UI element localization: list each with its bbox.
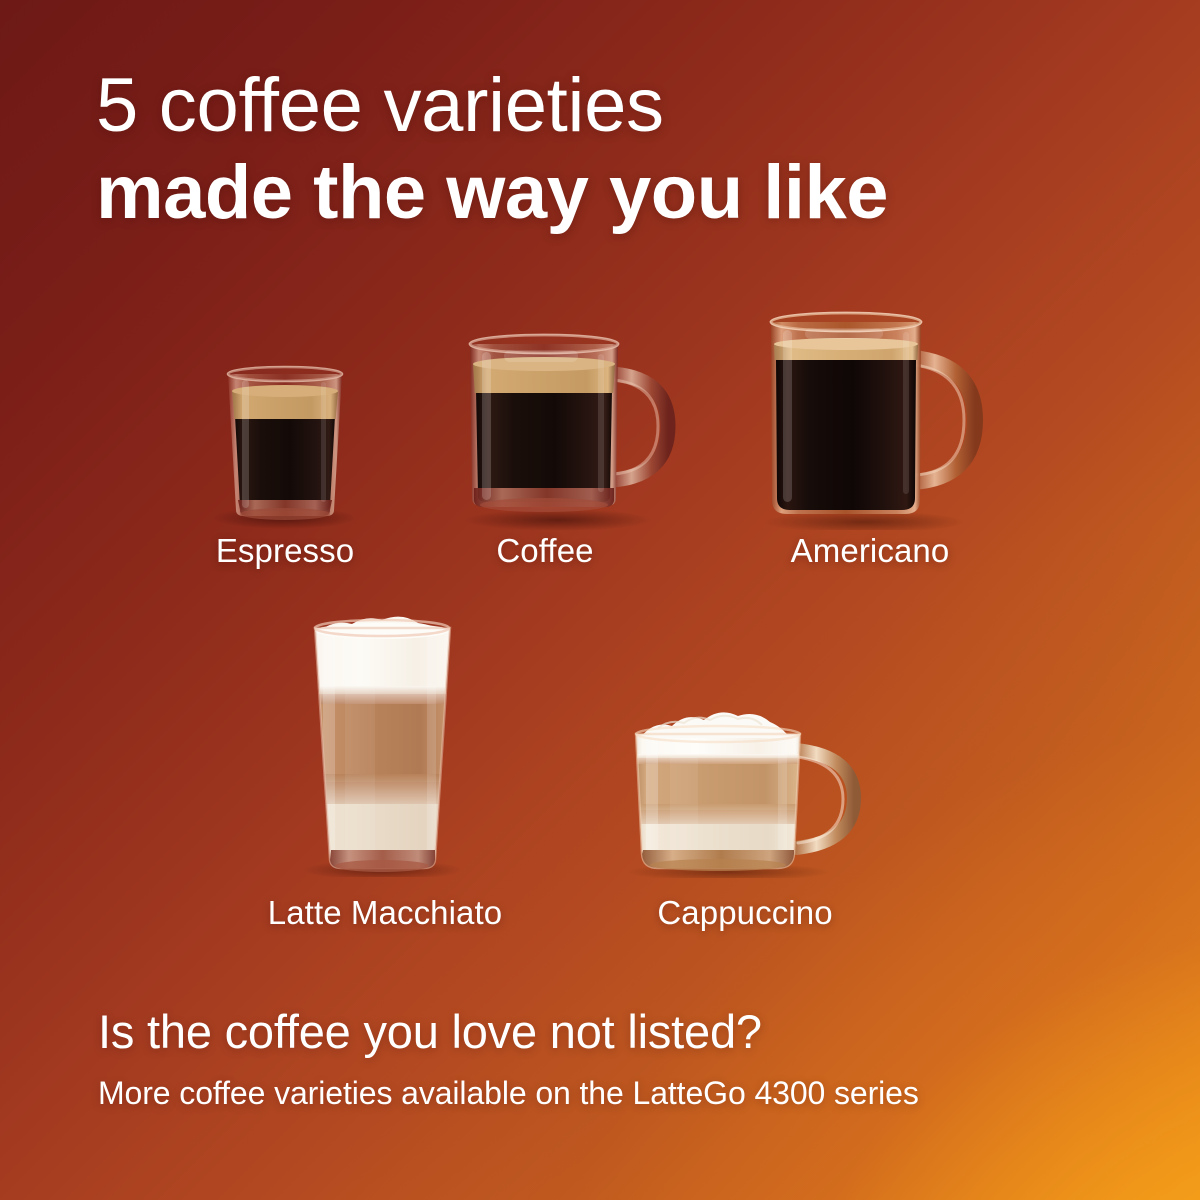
- drink-espresso: [180, 360, 390, 530]
- footer-question: Is the coffee you love not listed?: [98, 1004, 1128, 1060]
- headline-line-2: made the way you like: [96, 153, 1116, 234]
- caption-espresso: Espresso: [165, 532, 405, 570]
- caption-coffee: Coffee: [420, 532, 670, 570]
- drink-americano: [745, 310, 1005, 530]
- caption-latte-macchiato: Latte Macchiato: [215, 894, 555, 932]
- footer: Is the coffee you love not listed? More …: [98, 1004, 1128, 1113]
- drink-coffee: [440, 330, 700, 530]
- coffee-mug-icon: [440, 330, 700, 530]
- headline-line-1: 5 coffee varieties: [96, 66, 1116, 147]
- drink-latte: [285, 612, 480, 877]
- caption-americano: Americano: [725, 532, 1015, 570]
- espresso-glass-icon: [180, 360, 390, 530]
- cappuccino-cup-icon: [618, 706, 883, 878]
- headline: 5 coffee varieties made the way you like: [96, 66, 1116, 233]
- americano-mug-icon: [745, 310, 1005, 530]
- caption-cappuccino: Cappuccino: [600, 894, 890, 932]
- drink-cappuccino: [618, 706, 883, 878]
- latte-macchiato-glass-icon: [285, 612, 480, 877]
- poster-canvas: 5 coffee varieties made the way you like: [0, 0, 1200, 1200]
- footer-note: More coffee varieties available on the L…: [98, 1074, 1128, 1112]
